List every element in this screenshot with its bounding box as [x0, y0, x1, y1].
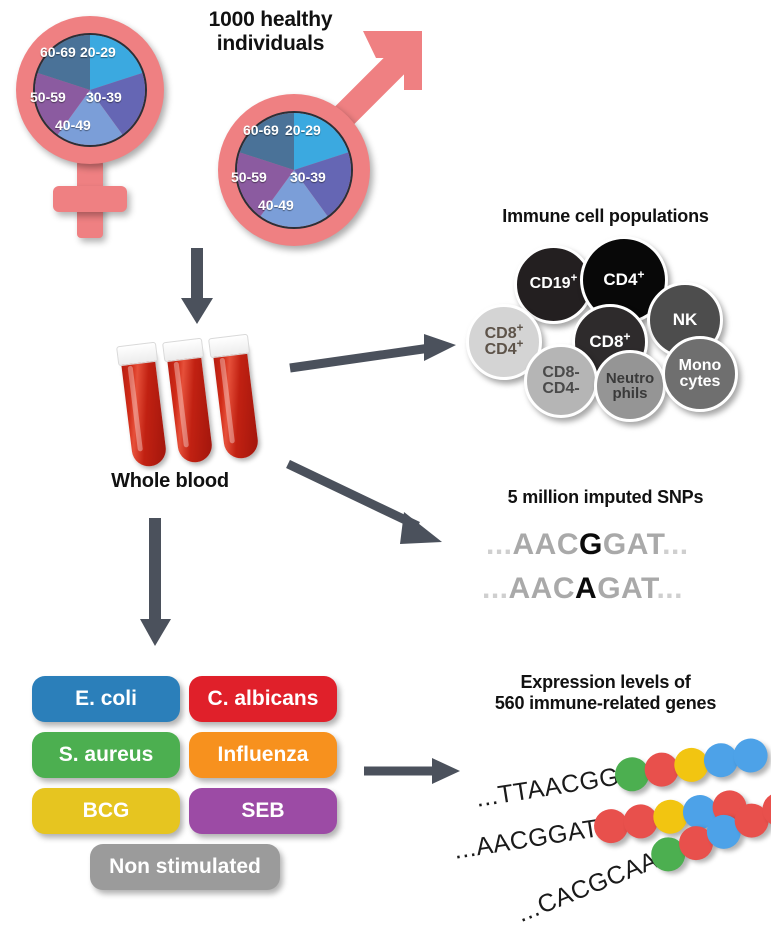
cell-label-line1: NK — [673, 311, 698, 328]
strand-sequence: ...TTAACGG — [474, 762, 622, 813]
expression-heading-line2: 560 immune-related genes — [440, 693, 771, 714]
snp-prefix: ... — [482, 572, 509, 605]
snp-suffix: ... — [662, 528, 689, 561]
cell-label-line2: CD4- — [542, 380, 579, 397]
stimulus-s-aureus[interactable]: S. aureus — [32, 732, 180, 778]
snp-heading: 5 million imputed SNPs — [440, 487, 771, 508]
cell-label-line1: CD8 — [485, 325, 517, 342]
arrow-blood-to-immune — [288, 330, 460, 380]
snp-left: AAC — [509, 572, 576, 605]
stimulus-non-stimulated[interactable]: Non stimulated — [90, 844, 280, 890]
arrow-blood-to-snp — [286, 460, 454, 550]
cell-label-sup1: + — [571, 273, 578, 285]
snp-variant-allele: G — [579, 528, 603, 561]
snp-suffix: ... — [656, 572, 683, 605]
male-pie-label-30-39: 30-39 — [290, 169, 326, 185]
immune-cell-neutrophils: Neutro phils — [594, 350, 666, 422]
arrow-blood-to-stimuli — [136, 518, 176, 648]
female-pie-label-30-39: 30-39 — [86, 89, 122, 105]
cell-label-line1: CD19 — [530, 275, 571, 292]
snp-prefix: ... — [486, 528, 513, 561]
female-pie-label-60-69: 60-69 — [40, 44, 76, 60]
expression-heading-line1: Expression levels of — [440, 672, 771, 693]
immune-cell-monocytes: Mono cytes — [662, 336, 738, 412]
expression-bead — [731, 736, 770, 775]
expression-strands: ...TTAACGG ...AACGGAT ...CACGCAA — [460, 736, 771, 912]
blood-tube — [120, 351, 168, 468]
male-pie-label-50-59: 50-59 — [231, 169, 267, 185]
strand-sequence: ...AACGGAT — [452, 814, 601, 866]
arrow-cohort-to-blood — [178, 248, 216, 326]
immune-cell-cluster: CD19+ CD4+ NK CD8+ CD8+ CD4+ CD8- CD4- N… — [466, 236, 766, 426]
blood-tube — [166, 347, 214, 464]
stimulus-bcg[interactable]: BCG — [32, 788, 180, 834]
stimuli-panel: E. coli C. albicans S. aureus Influenza … — [32, 676, 352, 896]
snp-variant-allele: A — [575, 572, 597, 605]
cell-label-line1: CD8- — [542, 364, 579, 381]
snp-sequences: ...AACGGAT... ...AACAGAT... — [478, 528, 771, 618]
female-symbol-crossbar — [53, 186, 127, 212]
cell-label-line1: CD4 — [603, 270, 637, 289]
male-pie-label-20-29: 20-29 — [285, 122, 321, 138]
snp-right: GAT — [603, 528, 662, 561]
snp-sequence-row: ...AACAGAT... — [482, 572, 683, 606]
stimulus-seb[interactable]: SEB — [189, 788, 337, 834]
strand-sequence: ...CACGCAA — [513, 846, 662, 929]
cell-label-sup2: + — [517, 339, 524, 351]
cell-label-line2: cytes — [680, 373, 721, 390]
arrow-stimuli-to-expression — [364, 755, 462, 787]
male-pie-label-60-69: 60-69 — [243, 122, 279, 138]
cell-label-sup1: + — [517, 322, 524, 334]
expression-heading: Expression levels of 560 immune-related … — [440, 672, 771, 714]
cell-label-line2: phils — [612, 385, 647, 402]
snp-left: AAC — [513, 528, 580, 561]
immune-cell-cd8-cd4-dn: CD8- CD4- — [524, 344, 598, 418]
cell-label-sup1: + — [637, 268, 644, 282]
stimulus-e-coli[interactable]: E. coli — [32, 676, 180, 722]
immune-heading: Immune cell populations — [440, 206, 771, 227]
figure-canvas: 1000 healthy individuals Immune cell pop… — [0, 0, 771, 922]
stimulus-c-albicans[interactable]: C. albicans — [189, 676, 337, 722]
female-pie-label-40-49: 40-49 — [55, 117, 91, 133]
snp-sequence-row: ...AACGGAT... — [486, 528, 689, 562]
snp-right: GAT — [597, 572, 656, 605]
female-pie-label-50-59: 50-59 — [30, 89, 66, 105]
male-pie-label-40-49: 40-49 — [258, 197, 294, 213]
cell-label-line1: Mono — [679, 357, 722, 374]
cell-label-line1: CD8 — [589, 332, 623, 351]
stimulus-influenza[interactable]: Influenza — [189, 732, 337, 778]
blood-tube — [212, 343, 260, 460]
cell-label-sup1: + — [623, 330, 630, 344]
female-pie-label-20-29: 20-29 — [80, 44, 116, 60]
cell-label-line2: CD4 — [485, 341, 517, 358]
whole-blood-tubes — [118, 345, 288, 475]
